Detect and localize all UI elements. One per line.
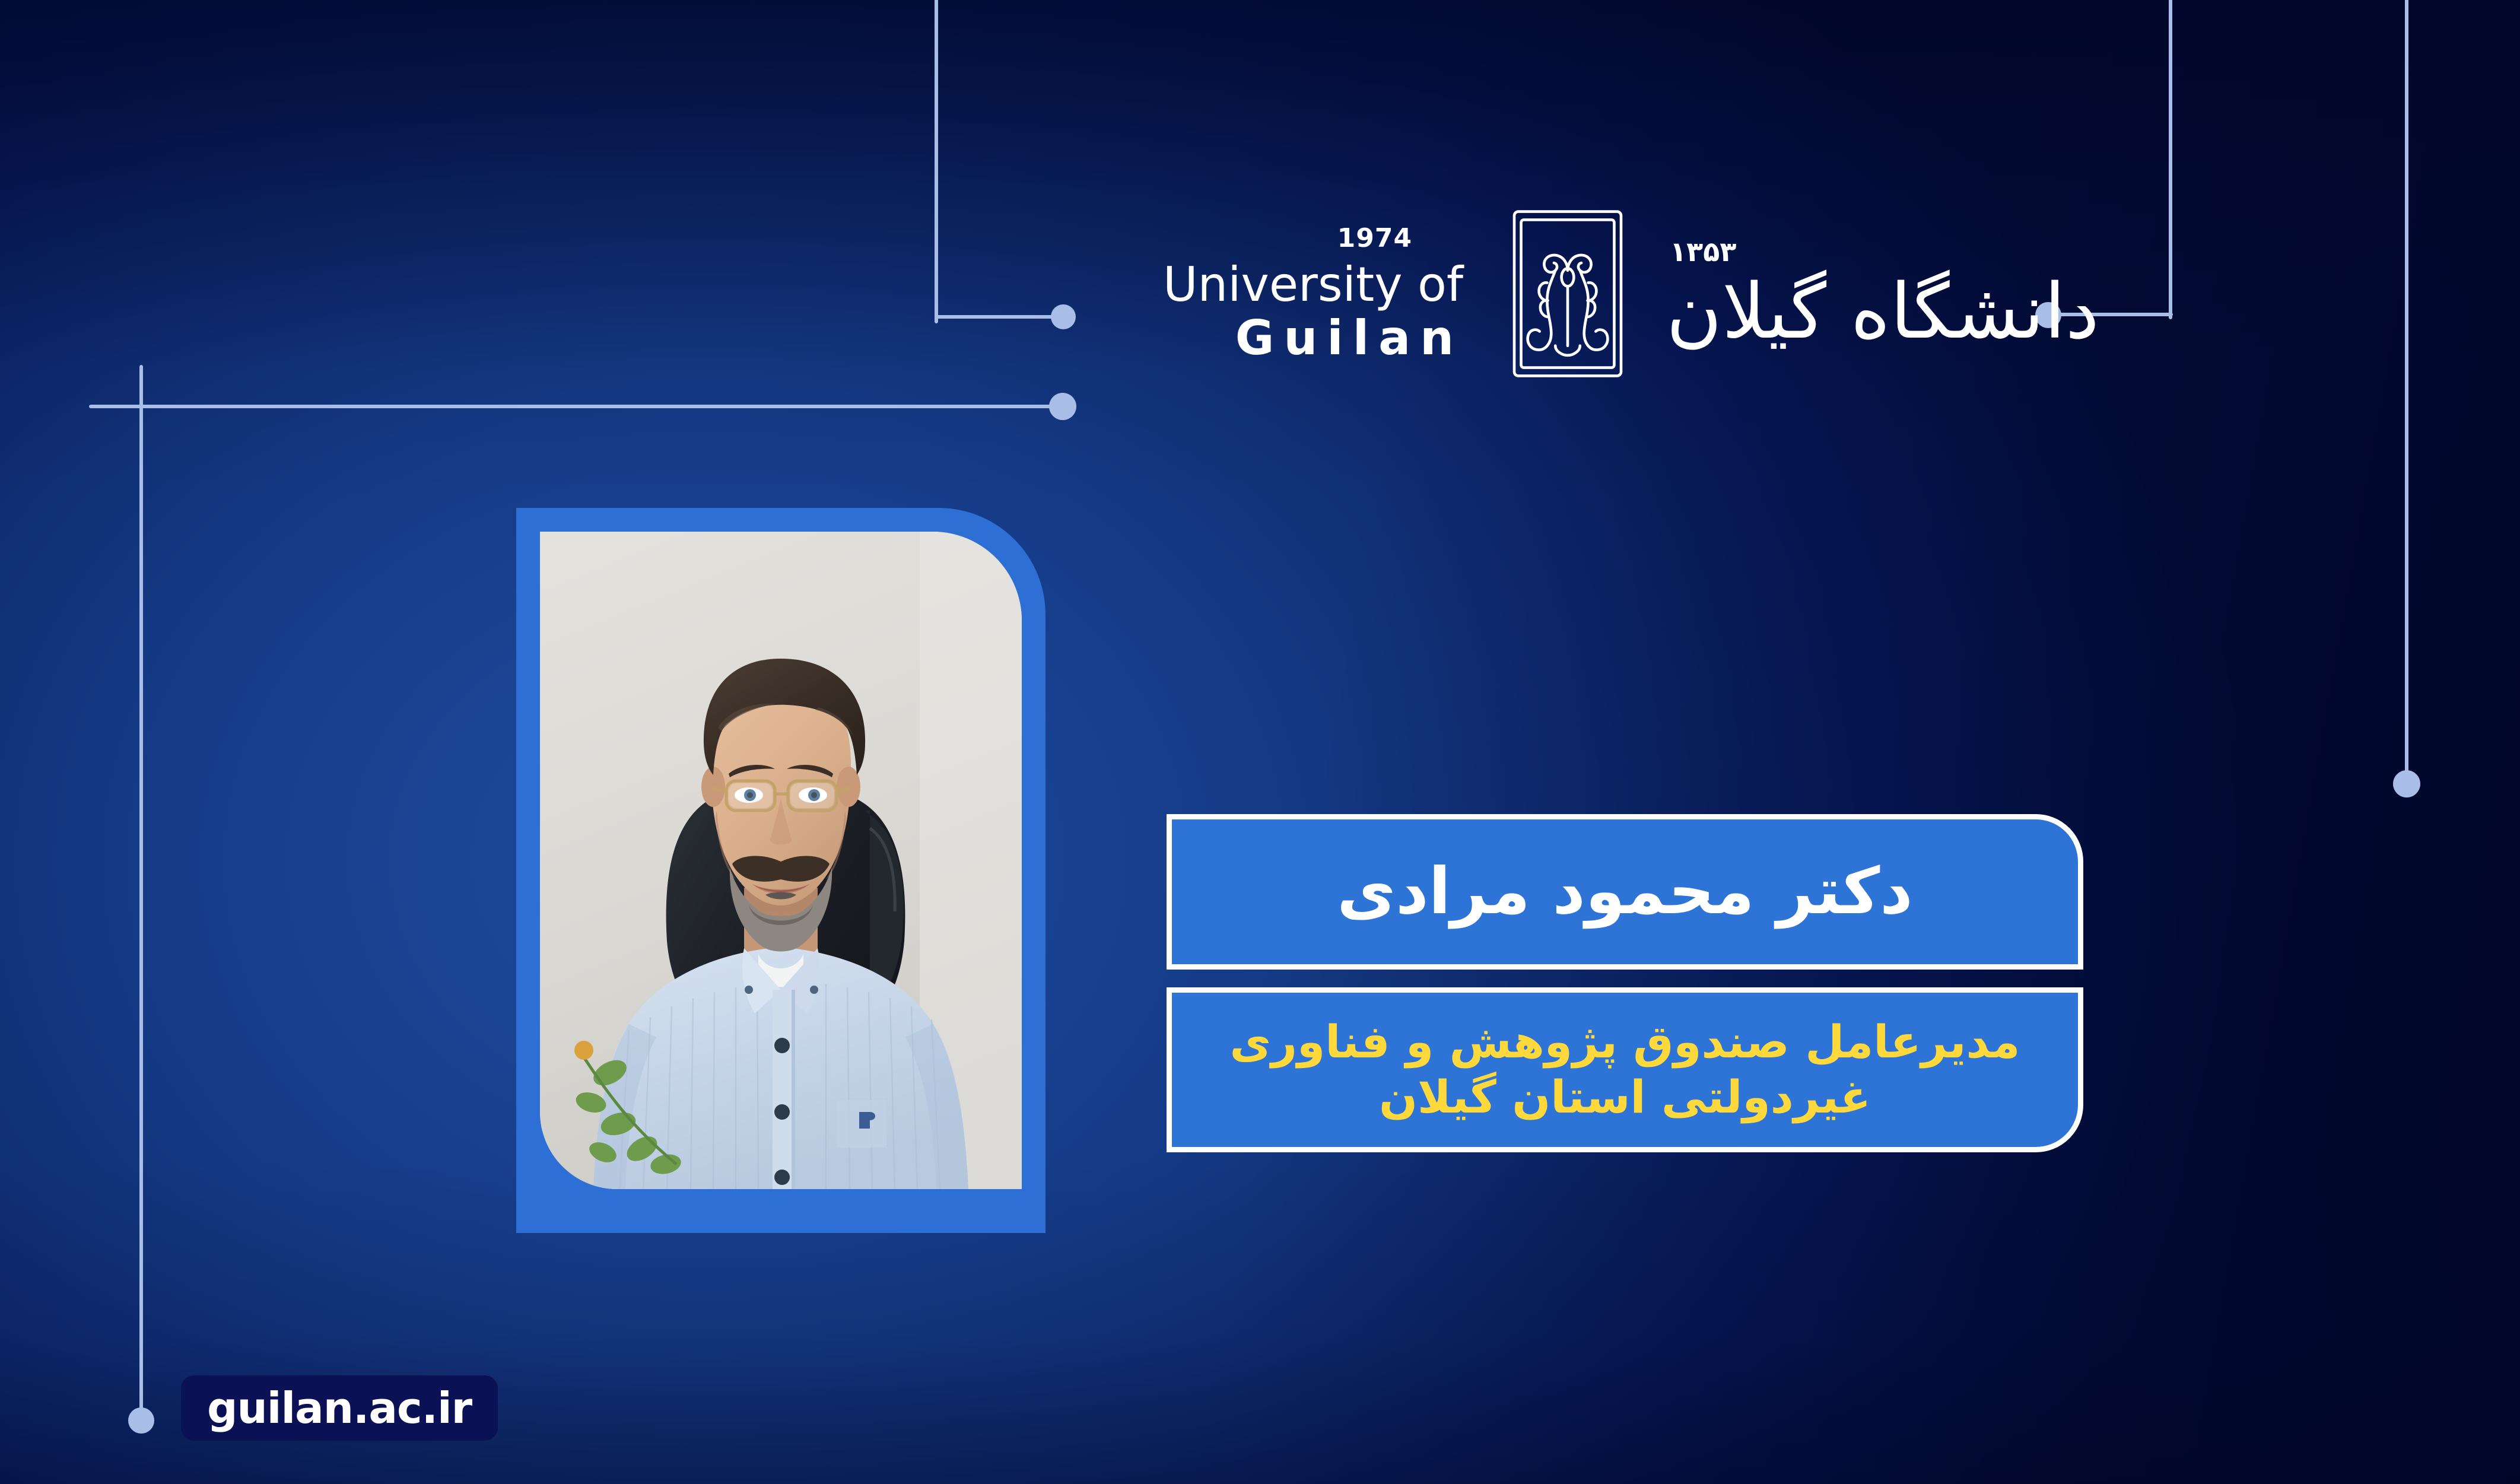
logo-guilan-word: Guilan: [1235, 314, 1463, 362]
portrait-illustration: [540, 532, 1022, 1189]
website-badge[interactable]: guilan.ac.ir: [181, 1375, 498, 1441]
logo-year-persian: ۱۳۵۳: [1670, 236, 1736, 268]
logo-university-word: University of: [1163, 261, 1463, 309]
guilan-university-emblem-icon: [1479, 205, 1657, 383]
decorative-line-top-right-vertical: [2169, 0, 2172, 319]
website-url: guilan.ac.ir: [207, 1387, 472, 1429]
portrait-photo: [540, 532, 1022, 1189]
portrait-frame: [516, 508, 1046, 1233]
university-logo: 1974 University of Guilan: [1163, 196, 2100, 392]
speaker-role-line-2: غیردولتی استان گیلان: [1379, 1070, 1871, 1125]
decorative-dot-left-horizontal-end: [1049, 393, 1076, 420]
decorative-dot-top-left: [1051, 304, 1076, 329]
speaker-name: دکتر محمود مرادی: [1337, 857, 1912, 927]
speaker-role-line-1: مدیرعامل صندوق پژوهش و فناوری: [1230, 1015, 2020, 1070]
speaker-name-banner: دکتر محمود مرادی: [1167, 814, 2083, 970]
logo-university-name-persian: دانشگاه گیلان: [1666, 272, 2099, 352]
decorative-line-far-right-vertical: [2405, 0, 2408, 783]
speaker-role-banner: مدیرعامل صندوق پژوهش و فناوری غیردولتی ا…: [1167, 987, 2083, 1152]
decorative-dot-left-vertical-end: [128, 1407, 154, 1434]
decorative-line-top-left-vertical: [935, 0, 938, 323]
logo-persian-text: ۱۳۵۳ دانشگاه گیلان: [1661, 236, 2099, 352]
decorative-line-left-vertical: [139, 365, 143, 1427]
promo-banner: 1974 University of Guilan: [0, 0, 2520, 1484]
decorative-line-left-horizontal: [89, 405, 1071, 408]
decorative-line-top-left-horizontal: [935, 315, 1068, 319]
logo-english-text: 1974 University of Guilan: [1163, 225, 1474, 362]
logo-year-gregorian: 1974: [1337, 225, 1412, 252]
decorative-dot-far-right: [2393, 770, 2420, 797]
